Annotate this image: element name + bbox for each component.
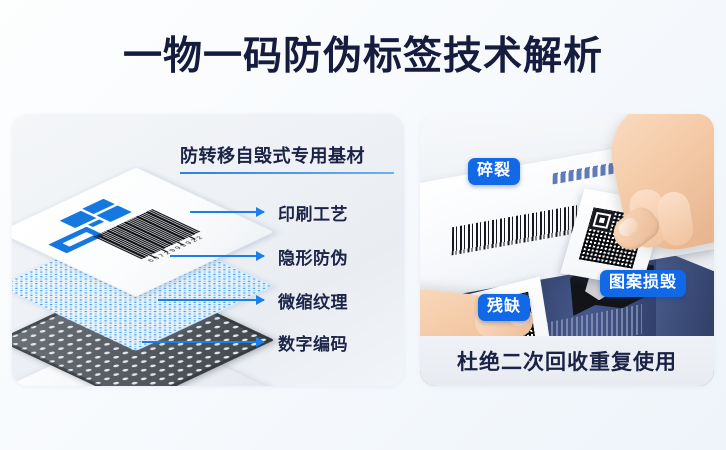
page-title: 一物一码防伪标签技术解析	[0, 36, 726, 79]
right-hand	[602, 114, 714, 259]
left-panel-heading: 防转移自毁式专用基材	[180, 142, 398, 174]
callout-digital-code: 数字编码	[142, 330, 348, 354]
left-panel-heading-underline	[180, 172, 394, 174]
arrow-right-icon	[142, 341, 264, 343]
right-panel-tamper-evidence: 碎裂 残缺 图案损毁 杜绝二次回收重复使用	[420, 114, 714, 386]
left-panel-heading-label: 防转移自毁式专用基材	[180, 142, 398, 168]
badge-shattered: 碎裂	[468, 158, 520, 185]
carton-barcode-icon	[452, 205, 580, 256]
badge-incomplete: 残缺	[478, 294, 530, 321]
arrow-right-icon	[158, 299, 264, 301]
right-panel-caption-bar: 杜绝二次回收重复使用	[420, 336, 714, 386]
badge-pattern-destroyed: 图案损毁	[600, 270, 686, 297]
right-panel-caption: 杜绝二次回收重复使用	[457, 346, 677, 376]
callout-label: 印刷工艺	[278, 200, 348, 225]
tamper-photo: 碎裂 残缺 图案损毁 杜绝二次回收重复使用	[420, 114, 714, 386]
callout-label: 数字编码	[278, 330, 348, 355]
infographic-stage: 一物一码防伪标签技术解析	[0, 0, 726, 450]
callout-label: 隐形防伪	[278, 244, 348, 269]
carton-print-text	[553, 162, 617, 184]
arrow-right-icon	[190, 211, 264, 213]
callout-invisible-anticounterfeit: 隐形防伪	[170, 244, 348, 268]
callout-label: 微缩纹理	[278, 288, 348, 313]
callout-printing-process: 印刷工艺	[190, 200, 348, 224]
arrow-right-icon	[170, 255, 264, 257]
left-panel-label-structure: 6972999922 防转移自毁式专用基材 印刷工艺 隐形防伪 微缩纹理 数字编…	[12, 114, 404, 386]
callout-micro-texture: 微缩纹理	[158, 288, 348, 312]
